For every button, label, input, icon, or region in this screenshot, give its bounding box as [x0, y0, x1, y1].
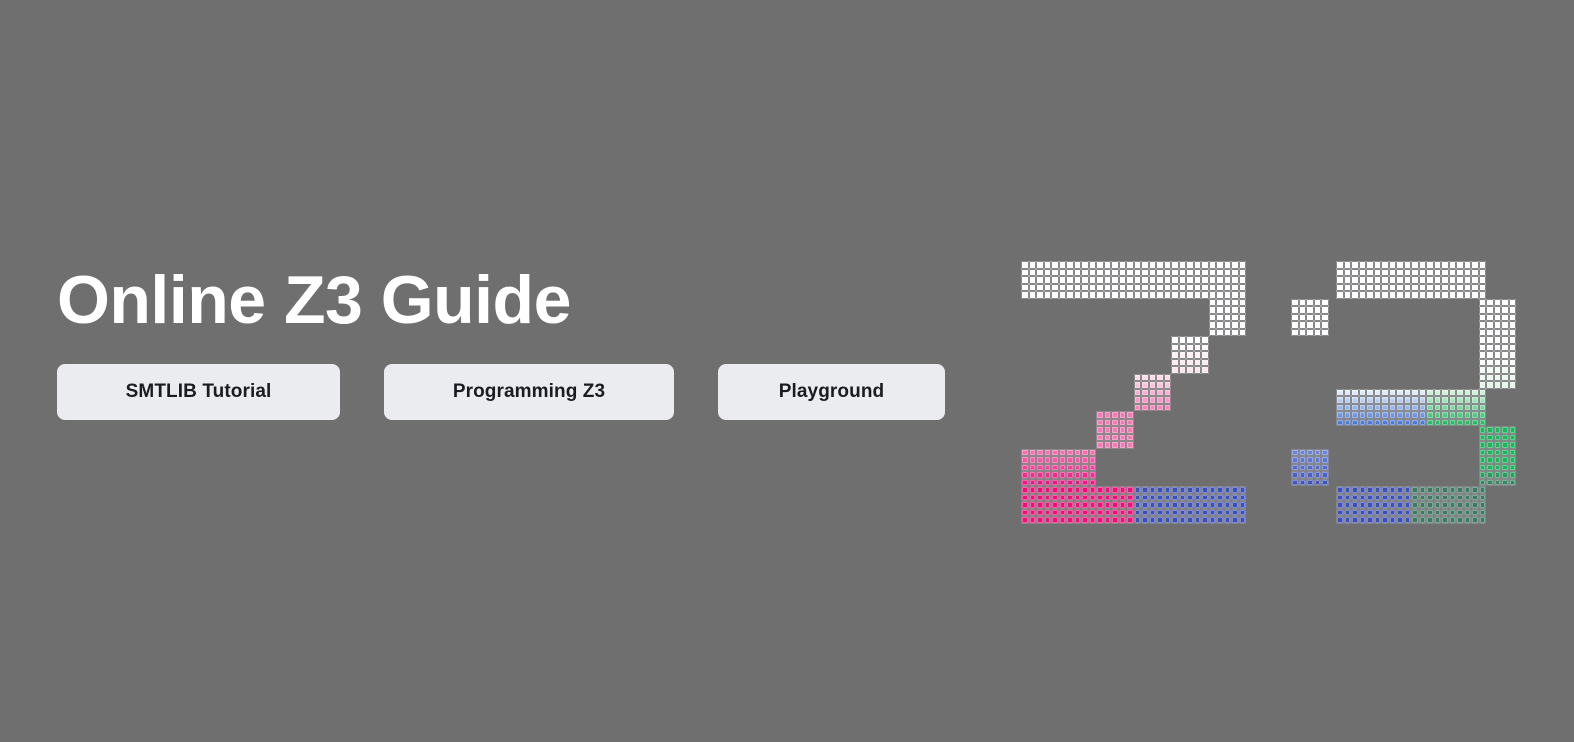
logo-pixel-cell	[1044, 284, 1052, 292]
logo-pixel-cell	[1074, 509, 1082, 517]
logo-pixel-cell	[1456, 396, 1464, 404]
logo-pixel-cell	[1374, 269, 1382, 277]
logo-pixel-cell	[1201, 509, 1209, 517]
three-bottom-green	[1411, 486, 1486, 524]
logo-pixel-cell	[1209, 261, 1217, 269]
logo-pixel-cell	[1231, 501, 1239, 509]
logo-pixel-cell	[1224, 494, 1232, 502]
logo-pixel-cell	[1456, 494, 1464, 502]
logo-pixel-cell	[1299, 299, 1307, 307]
logo-pixel-cell	[1351, 284, 1359, 292]
logo-pixel-cell	[1411, 291, 1419, 299]
logo-pixel-cell	[1464, 291, 1472, 299]
logo-pixel-cell	[1456, 419, 1464, 427]
logo-pixel-cell	[1366, 276, 1374, 284]
logo-pixel-cell	[1209, 306, 1217, 314]
logo-pixel-cell	[1456, 411, 1464, 419]
logo-pixel-cell	[1104, 419, 1112, 427]
logo-pixel-cell	[1209, 501, 1217, 509]
logo-pixel-cell	[1231, 269, 1239, 277]
logo-pixel-cell	[1239, 299, 1247, 307]
logo-pixel-cell	[1501, 359, 1509, 367]
logo-pixel-cell	[1224, 486, 1232, 494]
logo-pixel-cell	[1374, 494, 1382, 502]
logo-pixel-cell	[1126, 269, 1134, 277]
z-step-3	[1134, 374, 1172, 412]
logo-pixel-cell	[1074, 456, 1082, 464]
logo-pixel-cell	[1179, 336, 1187, 344]
logo-pixel-cell	[1501, 381, 1509, 389]
logo-pixel-cell	[1044, 494, 1052, 502]
logo-pixel-cell	[1479, 374, 1487, 382]
logo-pixel-cell	[1479, 404, 1487, 412]
logo-pixel-cell	[1456, 261, 1464, 269]
z-bottom-blue	[1134, 486, 1247, 524]
logo-pixel-cell	[1359, 516, 1367, 524]
logo-pixel-cell	[1156, 374, 1164, 382]
logo-pixel-cell	[1231, 291, 1239, 299]
logo-pixel-cell	[1201, 284, 1209, 292]
logo-pixel-cell	[1351, 389, 1359, 397]
logo-pixel-cell	[1231, 486, 1239, 494]
logo-pixel-cell	[1141, 261, 1149, 269]
logo-pixel-cell	[1134, 516, 1142, 524]
logo-pixel-cell	[1059, 509, 1067, 517]
logo-pixel-cell	[1066, 464, 1074, 472]
logo-pixel-cell	[1299, 471, 1307, 479]
logo-pixel-cell	[1126, 284, 1134, 292]
logo-pixel-cell	[1119, 486, 1127, 494]
logo-pixel-cell	[1404, 404, 1412, 412]
logo-pixel-cell	[1291, 329, 1299, 337]
logo-pixel-cell	[1426, 291, 1434, 299]
logo-pixel-cell	[1089, 261, 1097, 269]
logo-pixel-cell	[1104, 276, 1112, 284]
logo-pixel-cell	[1404, 261, 1412, 269]
logo-pixel-cell	[1404, 396, 1412, 404]
logo-pixel-cell	[1164, 261, 1172, 269]
logo-pixel-cell	[1351, 509, 1359, 517]
logo-pixel-cell	[1471, 404, 1479, 412]
logo-pixel-cell	[1171, 494, 1179, 502]
logo-pixel-cell	[1509, 329, 1517, 337]
logo-pixel-cell	[1029, 261, 1037, 269]
logo-pixel-cell	[1081, 471, 1089, 479]
logo-pixel-cell	[1036, 494, 1044, 502]
logo-pixel-cell	[1426, 261, 1434, 269]
logo-pixel-cell	[1089, 471, 1097, 479]
logo-pixel-cell	[1134, 501, 1142, 509]
logo-pixel-cell	[1486, 434, 1494, 442]
logo-pixel-cell	[1464, 494, 1472, 502]
logo-pixel-cell	[1396, 509, 1404, 517]
logo-pixel-cell	[1044, 509, 1052, 517]
logo-pixel-cell	[1089, 494, 1097, 502]
logo-pixel-cell	[1089, 479, 1097, 487]
logo-pixel-cell	[1419, 509, 1427, 517]
logo-pixel-cell	[1486, 471, 1494, 479]
logo-pixel-cell	[1404, 276, 1412, 284]
logo-pixel-cell	[1149, 389, 1157, 397]
logo-pixel-cell	[1501, 321, 1509, 329]
logo-pixel-cell	[1224, 269, 1232, 277]
logo-pixel-cell	[1194, 359, 1202, 367]
logo-pixel-cell	[1074, 494, 1082, 502]
logo-pixel-cell	[1321, 449, 1329, 457]
logo-pixel-cell	[1306, 329, 1314, 337]
logo-pixel-cell	[1381, 509, 1389, 517]
logo-pixel-cell	[1501, 441, 1509, 449]
logo-pixel-cell	[1464, 486, 1472, 494]
logo-pixel-cell	[1479, 261, 1487, 269]
logo-pixel-cell	[1179, 291, 1187, 299]
logo-pixel-cell	[1336, 486, 1344, 494]
logo-pixel-cell	[1074, 269, 1082, 277]
logo-pixel-cell	[1419, 261, 1427, 269]
logo-pixel-cell	[1194, 336, 1202, 344]
logo-pixel-cell	[1449, 291, 1457, 299]
logo-pixel-cell	[1156, 269, 1164, 277]
logo-pixel-cell	[1149, 291, 1157, 299]
logo-pixel-cell	[1074, 516, 1082, 524]
logo-pixel-cell	[1051, 261, 1059, 269]
logo-pixel-cell	[1111, 419, 1119, 427]
logo-pixel-cell	[1479, 389, 1487, 397]
logo-pixel-cell	[1224, 501, 1232, 509]
logo-pixel-cell	[1029, 494, 1037, 502]
logo-pixel-cell	[1066, 509, 1074, 517]
z-top-bar	[1021, 261, 1246, 299]
logo-pixel-cell	[1366, 291, 1374, 299]
logo-pixel-cell	[1486, 359, 1494, 367]
logo-pixel-cell	[1321, 314, 1329, 322]
logo-pixel-cell	[1479, 381, 1487, 389]
logo-pixel-cell	[1411, 516, 1419, 524]
logo-pixel-cell	[1486, 321, 1494, 329]
logo-pixel-cell	[1239, 306, 1247, 314]
logo-pixel-cell	[1509, 479, 1517, 487]
logo-pixel-cell	[1216, 509, 1224, 517]
logo-pixel-cell	[1119, 261, 1127, 269]
logo-pixel-cell	[1141, 494, 1149, 502]
logo-pixel-cell	[1456, 509, 1464, 517]
logo-pixel-cell	[1321, 299, 1329, 307]
logo-pixel-cell	[1486, 336, 1494, 344]
logo-pixel-cell	[1029, 501, 1037, 509]
logo-pixel-cell	[1156, 291, 1164, 299]
logo-pixel-cell	[1419, 516, 1427, 524]
logo-pixel-cell	[1224, 329, 1232, 337]
logo-pixel-cell	[1141, 374, 1149, 382]
logo-pixel-cell	[1419, 486, 1427, 494]
logo-pixel-cell	[1104, 426, 1112, 434]
logo-pixel-cell	[1366, 494, 1374, 502]
logo-pixel-cell	[1119, 516, 1127, 524]
logo-pixel-cell	[1201, 269, 1209, 277]
logo-pixel-cell	[1194, 276, 1202, 284]
logo-pixel-cell	[1471, 284, 1479, 292]
logo-pixel-cell	[1104, 291, 1112, 299]
logo-pixel-cell	[1164, 374, 1172, 382]
logo-pixel-cell	[1494, 381, 1502, 389]
logo-pixel-cell	[1224, 314, 1232, 322]
logo-pixel-cell	[1171, 351, 1179, 359]
logo-pixel-cell	[1344, 419, 1352, 427]
logo-pixel-cell	[1224, 261, 1232, 269]
logo-pixel-cell	[1164, 396, 1172, 404]
logo-pixel-cell	[1411, 494, 1419, 502]
logo-pixel-cell	[1239, 276, 1247, 284]
logo-pixel-cell	[1494, 314, 1502, 322]
logo-pixel-cell	[1066, 449, 1074, 457]
logo-pixel-cell	[1089, 509, 1097, 517]
logo-pixel-cell	[1051, 479, 1059, 487]
logo-pixel-cell	[1119, 419, 1127, 427]
logo-pixel-cell	[1104, 441, 1112, 449]
logo-pixel-cell	[1149, 374, 1157, 382]
logo-pixel-cell	[1344, 269, 1352, 277]
logo-pixel-cell	[1089, 501, 1097, 509]
logo-pixel-cell	[1066, 284, 1074, 292]
logo-pixel-cell	[1336, 261, 1344, 269]
logo-pixel-cell	[1411, 501, 1419, 509]
logo-pixel-cell	[1126, 494, 1134, 502]
logo-pixel-cell	[1156, 501, 1164, 509]
logo-pixel-cell	[1494, 299, 1502, 307]
logo-pixel-cell	[1044, 464, 1052, 472]
logo-pixel-cell	[1479, 464, 1487, 472]
logo-pixel-cell	[1066, 486, 1074, 494]
logo-pixel-cell	[1186, 291, 1194, 299]
logo-pixel-cell	[1209, 314, 1217, 322]
logo-pixel-cell	[1104, 509, 1112, 517]
logo-pixel-cell	[1141, 389, 1149, 397]
logo-pixel-cell	[1186, 351, 1194, 359]
logo-pixel-cell	[1051, 471, 1059, 479]
logo-pixel-cell	[1464, 276, 1472, 284]
logo-pixel-cell	[1494, 321, 1502, 329]
logo-pixel-cell	[1104, 516, 1112, 524]
logo-pixel-cell	[1171, 509, 1179, 517]
logo-pixel-cell	[1194, 509, 1202, 517]
logo-pixel-cell	[1389, 486, 1397, 494]
logo-pixel-cell	[1291, 299, 1299, 307]
logo-pixel-cell	[1359, 396, 1367, 404]
logo-pixel-cell	[1381, 389, 1389, 397]
logo-pixel-cell	[1479, 509, 1487, 517]
logo-pixel-cell	[1366, 419, 1374, 427]
logo-pixel-cell	[1426, 501, 1434, 509]
logo-pixel-cell	[1216, 486, 1224, 494]
logo-pixel-cell	[1509, 314, 1517, 322]
logo-pixel-cell	[1156, 389, 1164, 397]
logo-pixel-cell	[1441, 404, 1449, 412]
logo-pixel-cell	[1081, 509, 1089, 517]
logo-pixel-cell	[1389, 419, 1397, 427]
logo-pixel-cell	[1081, 269, 1089, 277]
logo-pixel-cell	[1059, 291, 1067, 299]
logo-pixel-cell	[1351, 419, 1359, 427]
logo-pixel-cell	[1081, 291, 1089, 299]
logo-pixel-cell	[1411, 404, 1419, 412]
logo-pixel-cell	[1479, 456, 1487, 464]
logo-pixel-cell	[1291, 449, 1299, 457]
logo-pixel-cell	[1179, 284, 1187, 292]
logo-pixel-cell	[1321, 306, 1329, 314]
logo-pixel-cell	[1216, 306, 1224, 314]
logo-pixel-cell	[1164, 269, 1172, 277]
logo-pixel-cell	[1081, 494, 1089, 502]
logo-pixel-cell	[1389, 276, 1397, 284]
logo-pixel-cell	[1471, 494, 1479, 502]
logo-pixel-cell	[1396, 269, 1404, 277]
logo-pixel-cell	[1501, 299, 1509, 307]
logo-pixel-cell	[1021, 516, 1029, 524]
logo-pixel-cell	[1486, 366, 1494, 374]
logo-pixel-cell	[1239, 321, 1247, 329]
logo-pixel-cell	[1351, 494, 1359, 502]
logo-pixel-cell	[1434, 261, 1442, 269]
logo-pixel-cell	[1359, 284, 1367, 292]
logo-pixel-cell	[1344, 276, 1352, 284]
logo-pixel-cell	[1494, 426, 1502, 434]
logo-pixel-cell	[1096, 441, 1104, 449]
logo-pixel-cell	[1164, 494, 1172, 502]
logo-pixel-cell	[1059, 516, 1067, 524]
logo-pixel-cell	[1179, 351, 1187, 359]
logo-pixel-cell	[1299, 456, 1307, 464]
logo-pixel-cell	[1021, 494, 1029, 502]
logo-pixel-cell	[1321, 479, 1329, 487]
logo-pixel-cell	[1471, 501, 1479, 509]
logo-pixel-cell	[1374, 291, 1382, 299]
logo-pixel-cell	[1074, 261, 1082, 269]
logo-pixel-cell	[1426, 516, 1434, 524]
logo-pixel-cell	[1036, 471, 1044, 479]
logo-pixel-cell	[1141, 509, 1149, 517]
logo-pixel-cell	[1156, 261, 1164, 269]
logo-pixel-cell	[1104, 494, 1112, 502]
logo-pixel-cell	[1396, 396, 1404, 404]
logo-pixel-cell	[1374, 396, 1382, 404]
logo-pixel-cell	[1411, 269, 1419, 277]
logo-pixel-cell	[1171, 501, 1179, 509]
logo-pixel-cell	[1299, 329, 1307, 337]
logo-pixel-cell	[1456, 276, 1464, 284]
logo-pixel-cell	[1441, 291, 1449, 299]
logo-pixel-cell	[1434, 276, 1442, 284]
logo-pixel-cell	[1449, 494, 1457, 502]
logo-pixel-cell	[1419, 396, 1427, 404]
logo-pixel-cell	[1194, 269, 1202, 277]
logo-pixel-cell	[1306, 456, 1314, 464]
logo-pixel-cell	[1426, 276, 1434, 284]
logo-pixel-cell	[1321, 329, 1329, 337]
logo-pixel-cell	[1366, 269, 1374, 277]
logo-pixel-cell	[1216, 516, 1224, 524]
logo-pixel-cell	[1419, 404, 1427, 412]
logo-pixel-cell	[1479, 479, 1487, 487]
logo-pixel-cell	[1179, 366, 1187, 374]
logo-pixel-cell	[1126, 486, 1134, 494]
logo-pixel-cell	[1479, 359, 1487, 367]
programming-z3-button[interactable]: Programming Z3	[384, 364, 674, 420]
logo-pixel-cell	[1389, 396, 1397, 404]
logo-pixel-cell	[1381, 516, 1389, 524]
hero-section: Online Z3 Guide SMTLIB Tutorial Programm…	[0, 0, 1574, 742]
logo-pixel-cell	[1359, 486, 1367, 494]
logo-pixel-cell	[1494, 479, 1502, 487]
logo-pixel-cell	[1179, 276, 1187, 284]
logo-pixel-cell	[1464, 411, 1472, 419]
logo-pixel-cell	[1441, 501, 1449, 509]
logo-pixel-cell	[1389, 284, 1397, 292]
z-step-2	[1171, 336, 1209, 374]
playground-button[interactable]: Playground	[718, 364, 945, 420]
logo-pixel-cell	[1351, 396, 1359, 404]
logo-pixel-cell	[1021, 501, 1029, 509]
logo-pixel-cell	[1029, 516, 1037, 524]
logo-pixel-cell	[1366, 501, 1374, 509]
logo-pixel-cell	[1119, 441, 1127, 449]
logo-pixel-cell	[1411, 276, 1419, 284]
logo-pixel-cell	[1434, 419, 1442, 427]
logo-pixel-cell	[1314, 299, 1322, 307]
logo-pixel-cell	[1486, 441, 1494, 449]
logo-pixel-cell	[1111, 441, 1119, 449]
logo-pixel-cell	[1029, 509, 1037, 517]
logo-pixel-cell	[1479, 291, 1487, 299]
logo-pixel-cell	[1396, 501, 1404, 509]
logo-pixel-cell	[1306, 299, 1314, 307]
logo-pixel-cell	[1374, 404, 1382, 412]
logo-pixel-cell	[1036, 509, 1044, 517]
logo-pixel-cell	[1059, 479, 1067, 487]
logo-pixel-cell	[1194, 261, 1202, 269]
logo-pixel-cell	[1381, 411, 1389, 419]
logo-pixel-cell	[1059, 449, 1067, 457]
logo-pixel-cell	[1081, 464, 1089, 472]
logo-pixel-cell	[1366, 396, 1374, 404]
logo-pixel-cell	[1366, 486, 1374, 494]
logo-pixel-cell	[1231, 261, 1239, 269]
logo-pixel-cell	[1149, 404, 1157, 412]
logo-pixel-cell	[1044, 479, 1052, 487]
logo-pixel-cell	[1314, 449, 1322, 457]
logo-pixel-cell	[1449, 419, 1457, 427]
logo-pixel-cell	[1494, 336, 1502, 344]
logo-pixel-cell	[1216, 261, 1224, 269]
logo-pixel-cell	[1096, 426, 1104, 434]
logo-pixel-cell	[1021, 464, 1029, 472]
logo-pixel-cell	[1096, 419, 1104, 427]
logo-pixel-cell	[1194, 366, 1202, 374]
logo-pixel-cell	[1156, 284, 1164, 292]
logo-pixel-cell	[1149, 486, 1157, 494]
logo-pixel-cell	[1029, 464, 1037, 472]
logo-pixel-cell	[1336, 411, 1344, 419]
logo-pixel-cell	[1374, 284, 1382, 292]
logo-pixel-cell	[1471, 486, 1479, 494]
logo-pixel-cell	[1194, 291, 1202, 299]
logo-pixel-cell	[1096, 411, 1104, 419]
logo-pixel-cell	[1239, 494, 1247, 502]
logo-pixel-cell	[1209, 486, 1217, 494]
logo-pixel-cell	[1509, 464, 1517, 472]
logo-pixel-cell	[1449, 404, 1457, 412]
logo-pixel-cell	[1021, 291, 1029, 299]
smtlib-tutorial-button[interactable]: SMTLIB Tutorial	[57, 364, 340, 420]
